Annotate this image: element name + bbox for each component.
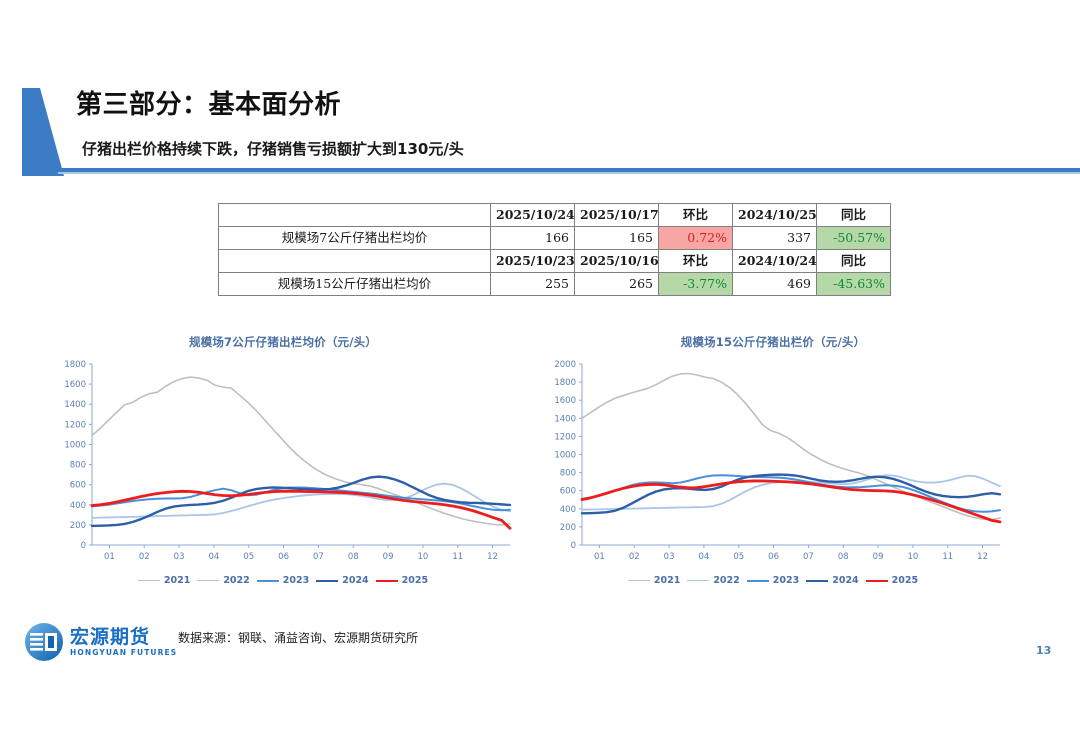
value-current: 166 [491, 227, 575, 250]
value-yoy: -50.57% [817, 227, 891, 250]
legend-label: 2021 [654, 575, 680, 586]
svg-text:12: 12 [487, 552, 498, 562]
svg-text:1600: 1600 [64, 380, 86, 390]
svg-text:03: 03 [174, 552, 185, 562]
legend-swatch-icon [138, 580, 160, 581]
value-mom: 0.72% [659, 227, 733, 250]
svg-text:1800: 1800 [554, 378, 576, 388]
svg-text:600: 600 [560, 487, 576, 497]
svg-text:05: 05 [243, 552, 254, 562]
svg-text:08: 08 [838, 552, 849, 562]
value-current: 255 [491, 273, 575, 296]
legend-label: 2025 [402, 575, 428, 586]
legend-item-2023[interactable]: 2023 [747, 575, 799, 586]
svg-text:02: 02 [629, 552, 640, 562]
legend-label: 2023 [773, 575, 799, 586]
legend-label: 2023 [283, 575, 309, 586]
svg-text:1200: 1200 [554, 432, 576, 442]
chart-legend: 20212022202320242025 [538, 575, 1008, 586]
value-previous: 165 [575, 227, 659, 250]
table-row: 2025/10/23 2025/10/16 环比 2024/10/24 同比 [219, 250, 891, 273]
svg-text:05: 05 [733, 552, 744, 562]
legend-item-2022[interactable]: 2022 [687, 575, 739, 586]
legend-item-2024[interactable]: 2024 [806, 575, 858, 586]
metrics-table: 2025/10/24 2025/10/17 环比 2024/10/25 同比 规… [218, 203, 891, 296]
chart-plot-area: 0200400600800100012001400160018002000010… [538, 356, 1008, 571]
svg-text:0: 0 [81, 541, 86, 551]
col-date-previous: 2025/10/16 [575, 250, 659, 273]
value-yoy: -45.63% [817, 273, 891, 296]
legend-item-2024[interactable]: 2024 [316, 575, 368, 586]
metrics-table-body: 2025/10/24 2025/10/17 环比 2024/10/25 同比 规… [219, 204, 891, 296]
metrics-table-container: 2025/10/24 2025/10/17 环比 2024/10/25 同比 规… [218, 203, 870, 296]
legend-swatch-icon [316, 580, 338, 582]
svg-text:600: 600 [70, 481, 86, 491]
logo-text-en: HONGYUAN FUTURES [70, 648, 177, 657]
svg-text:01: 01 [104, 552, 115, 562]
col-yoy-header: 同比 [817, 204, 891, 227]
svg-text:02: 02 [139, 552, 150, 562]
col-date-lastyear: 2024/10/24 [733, 250, 817, 273]
legend-item-2025[interactable]: 2025 [866, 575, 918, 586]
logo-text-cn: 宏源期货 [70, 622, 150, 649]
legend-item-2023[interactable]: 2023 [257, 575, 309, 586]
svg-text:08: 08 [348, 552, 359, 562]
col-date-current: 2025/10/24 [491, 204, 575, 227]
table-row: 规模场7公斤仔猪出栏均价 166 165 0.72% 337 -50.57% [219, 227, 891, 250]
table-row: 规模场15公斤仔猪出栏均价 255 265 -3.77% 469 -45.63% [219, 273, 891, 296]
svg-text:200: 200 [560, 523, 576, 533]
svg-text:09: 09 [383, 552, 394, 562]
svg-text:1000: 1000 [554, 451, 576, 461]
legend-label: 2021 [164, 575, 190, 586]
chart-legend: 20212022202320242025 [48, 575, 518, 586]
col-date-lastyear: 2024/10/25 [733, 204, 817, 227]
svg-text:03: 03 [664, 552, 675, 562]
svg-text:1200: 1200 [64, 420, 86, 430]
logo-mark-icon [24, 622, 64, 662]
chart-title: 规模场15公斤仔猪出栏价（元/头） [538, 334, 1008, 350]
svg-text:800: 800 [560, 469, 576, 479]
svg-text:07: 07 [803, 552, 814, 562]
page-title: 第三部分：基本面分析 [76, 84, 341, 121]
svg-text:06: 06 [768, 552, 779, 562]
svg-text:11: 11 [942, 552, 953, 562]
chart-title: 规模场7公斤仔猪出栏均价（元/头） [48, 334, 518, 350]
legend-swatch-icon [806, 580, 828, 582]
legend-item-2021[interactable]: 2021 [138, 575, 190, 586]
chart-plot-area: 0200400600800100012001400160018000102030… [48, 356, 518, 571]
legend-swatch-icon [628, 580, 650, 581]
svg-text:1400: 1400 [554, 414, 576, 424]
svg-text:04: 04 [699, 552, 710, 562]
value-lastyear: 469 [733, 273, 817, 296]
svg-text:10: 10 [908, 552, 919, 562]
legend-label: 2024 [342, 575, 368, 586]
svg-text:06: 06 [278, 552, 289, 562]
legend-swatch-icon [687, 580, 709, 581]
svg-text:04: 04 [209, 552, 220, 562]
header-divider-shadow [58, 172, 1080, 174]
svg-text:1400: 1400 [64, 400, 86, 410]
legend-label: 2022 [713, 575, 739, 586]
svg-text:11: 11 [452, 552, 463, 562]
value-mom: -3.77% [659, 273, 733, 296]
row-label: 规模场7公斤仔猪出栏均价 [219, 227, 491, 250]
source-note: 数据来源：钢联、涌益咨询、宏源期货研究所 [178, 629, 418, 646]
row-label [219, 250, 491, 273]
col-date-previous: 2025/10/17 [575, 204, 659, 227]
chart-piglet-7kg: 规模场7公斤仔猪出栏均价（元/头） 0200400600800100012001… [48, 334, 518, 614]
legend-swatch-icon [747, 580, 769, 582]
col-yoy-header: 同比 [817, 250, 891, 273]
svg-text:1000: 1000 [64, 440, 86, 450]
legend-label: 2024 [832, 575, 858, 586]
page-subtitle: 仔猪出栏价格持续下跌，仔猪销售亏损额扩大到130元/头 [82, 138, 464, 159]
svg-text:0: 0 [571, 541, 576, 551]
legend-swatch-icon [197, 580, 219, 581]
header-accent-wedge [22, 88, 64, 176]
col-mom-header: 环比 [659, 250, 733, 273]
col-mom-header: 环比 [659, 204, 733, 227]
legend-label: 2025 [892, 575, 918, 586]
legend-item-2025[interactable]: 2025 [376, 575, 428, 586]
svg-text:1800: 1800 [64, 360, 86, 370]
svg-text:1600: 1600 [554, 396, 576, 406]
col-date-current: 2025/10/23 [491, 250, 575, 273]
table-row: 2025/10/24 2025/10/17 环比 2024/10/25 同比 [219, 204, 891, 227]
svg-text:01: 01 [594, 552, 605, 562]
svg-text:07: 07 [313, 552, 324, 562]
svg-text:09: 09 [873, 552, 884, 562]
svg-text:400: 400 [70, 501, 86, 511]
svg-text:12: 12 [977, 552, 988, 562]
legend-swatch-icon [376, 580, 398, 582]
chart-piglet-15kg: 规模场15公斤仔猪出栏价（元/头） 0200400600800100012001… [538, 334, 1008, 614]
svg-text:800: 800 [70, 461, 86, 471]
page-number: 13 [1036, 644, 1051, 657]
svg-text:200: 200 [70, 521, 86, 531]
legend-label: 2022 [223, 575, 249, 586]
svg-text:10: 10 [418, 552, 429, 562]
value-previous: 265 [575, 273, 659, 296]
company-logo: 宏源期货 HONGYUAN FUTURES [24, 620, 164, 666]
legend-item-2021[interactable]: 2021 [628, 575, 680, 586]
row-label: 规模场15公斤仔猪出栏均价 [219, 273, 491, 296]
legend-swatch-icon [257, 580, 279, 582]
svg-text:400: 400 [560, 505, 576, 515]
value-lastyear: 337 [733, 227, 817, 250]
legend-item-2022[interactable]: 2022 [197, 575, 249, 586]
svg-text:2000: 2000 [554, 360, 576, 370]
legend-swatch-icon [866, 580, 888, 582]
row-label [219, 204, 491, 227]
